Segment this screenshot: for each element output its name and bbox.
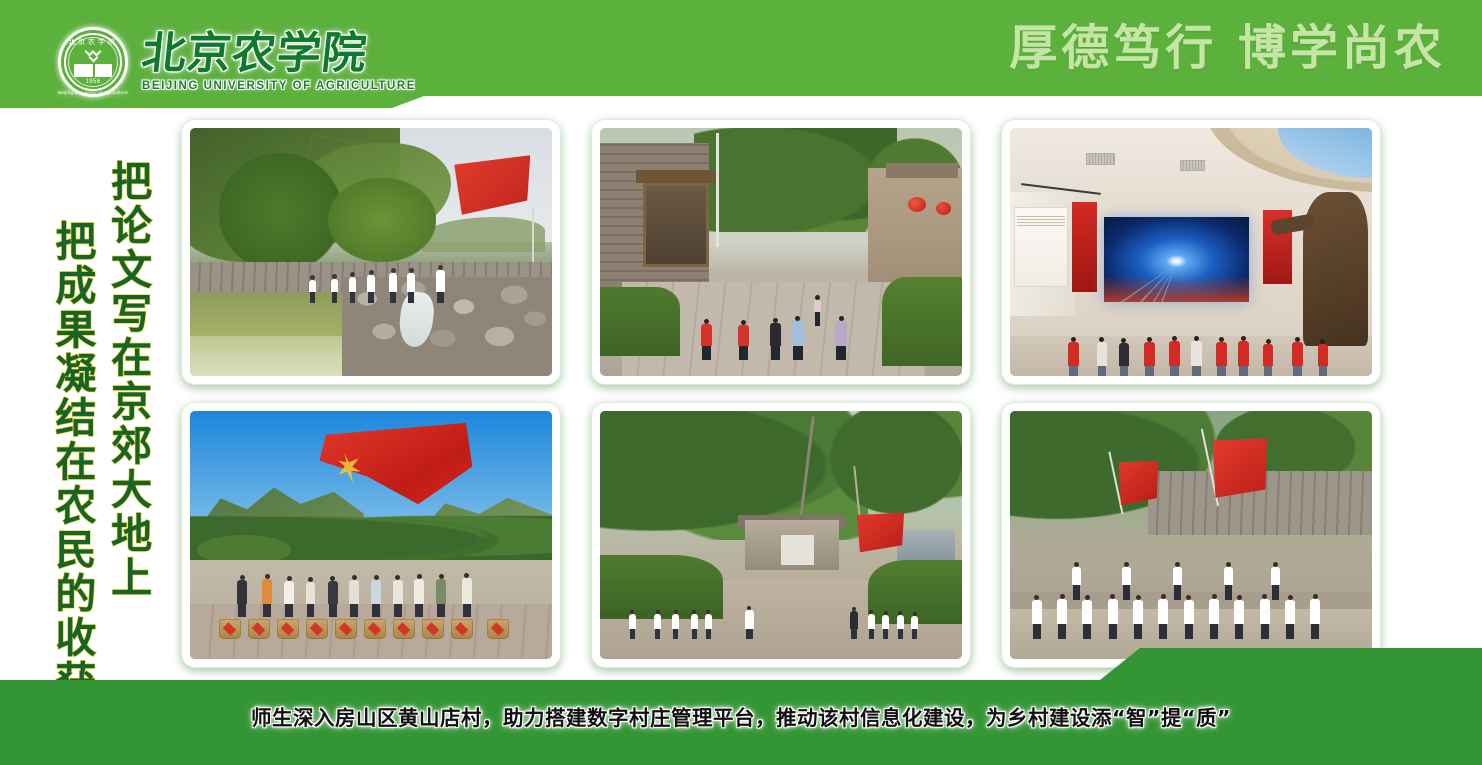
emblem-sprout-icon — [82, 46, 104, 66]
emblem-year: 1956 — [58, 79, 128, 85]
photo-image-4 — [190, 411, 552, 659]
logo-wordmark: 北京农学院 BEIJING UNIVERSITY OF AGRICULTURE — [138, 32, 416, 92]
vertical-slogan: 把论文写在京郊大地上 把成果凝结在农民的收获里 — [50, 160, 148, 748]
photo-card-4[interactable]: 师生在红色党旗雕塑前合影，身前摆放背篓 — [181, 402, 561, 668]
photo-image-6 — [1010, 411, 1372, 659]
university-motto: 厚德笃行 博学尚农 — [1009, 24, 1446, 72]
photo-image-3 — [1010, 128, 1372, 376]
photo-card-6[interactable]: 实践团队在石墙前举两面红旗集体合影 — [1001, 402, 1381, 668]
emblem-arc-text: Beijing University of Agriculture — [58, 90, 128, 95]
footer-caption: 师生深入房山区黄山店村，助力搭建数字村庄管理平台，推动该村信息化建设，为乡村建设… — [0, 701, 1482, 731]
red-flag-icon-a — [1119, 461, 1159, 506]
university-name-en: BEIJING UNIVERSITY OF AGRICULTURE — [142, 80, 416, 92]
slogan-line-1: 把论文写在京郊大地上 — [106, 160, 148, 748]
photo-card-2[interactable]: 红衣志愿者与村民走在村庄石板街上，墙头挂着红灯笼 — [591, 119, 971, 385]
photo-card-1[interactable]: 师生沿石坝察看村庄水系，队伍手持红旗前行 — [181, 119, 561, 385]
university-emblem-icon: 北京农学院 1956 Beijing University of Agricul… — [58, 27, 128, 97]
bronze-statue — [1303, 192, 1368, 346]
photo-gallery: 师生沿石坝察看村庄水系，队伍手持红旗前行 红衣志愿者与村民走在村庄石板街上，墙头… — [181, 119, 1393, 668]
university-logo: 北京农学院 1956 Beijing University of Agricul… — [58, 27, 416, 97]
photo-card-5[interactable]: 白衣学生队伍举红旗走在村庄土路上 — [591, 402, 971, 668]
photo-card-3[interactable]: 身穿红色队服的学生在展馆内参观大屏展示 — [1001, 119, 1381, 385]
poster-root: 北京农学院 1956 Beijing University of Agricul… — [0, 0, 1482, 765]
photo-image-5 — [600, 411, 962, 659]
red-flag-icon-b — [1213, 438, 1267, 498]
emblem-book-icon — [74, 64, 112, 77]
photo-image-2 — [600, 128, 962, 376]
university-name-cn: 北京农学院 — [136, 32, 374, 76]
slogan-line-2: 把成果凝结在农民的收获里 — [50, 220, 92, 748]
photo-image-1 — [190, 128, 552, 376]
